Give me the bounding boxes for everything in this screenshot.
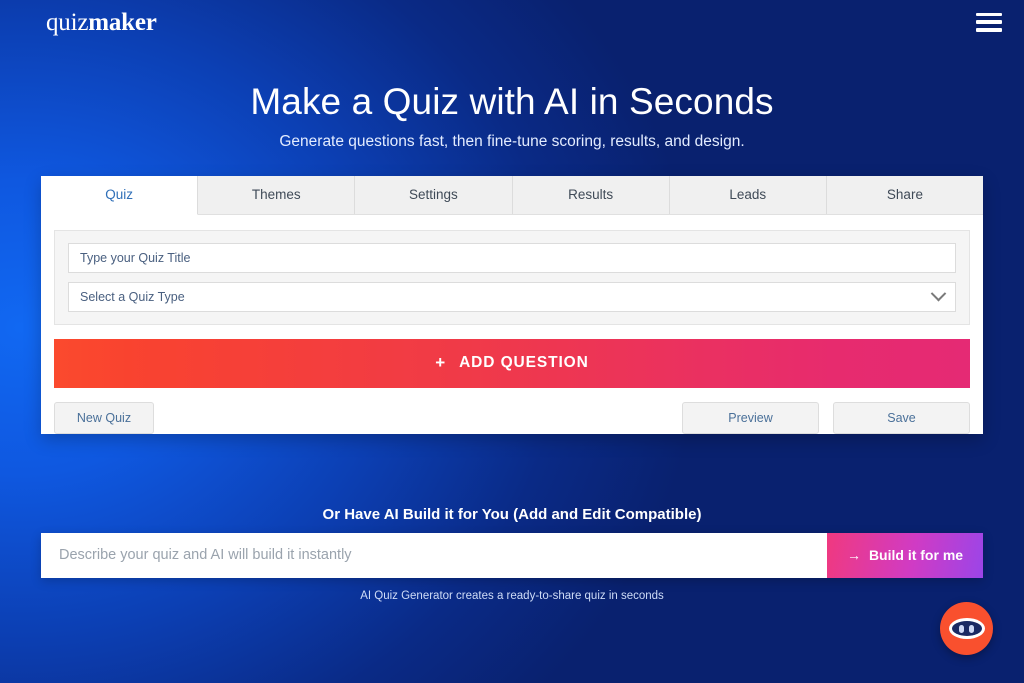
ai-builder-section: Or Have AI Build it for You (Add and Edi… — [0, 506, 1024, 602]
builder-actions-right: Preview Save — [682, 402, 970, 434]
chevron-down-icon — [931, 286, 947, 302]
quiz-fields-panel: Type your Quiz Title Select a Quiz Type — [54, 230, 970, 325]
robot-eye-left — [959, 625, 964, 633]
hero-section: Make a Quiz with AI in Seconds Generate … — [0, 81, 1024, 151]
save-button[interactable]: Save — [833, 402, 970, 434]
builder-tabs: Quiz Themes Settings Results Leads Share — [41, 176, 983, 215]
preview-button[interactable]: Preview — [682, 402, 819, 434]
robot-face-icon — [949, 618, 985, 639]
new-quiz-button[interactable]: New Quiz — [54, 402, 154, 434]
ai-prompt-bar: Describe your quiz and AI will build it … — [41, 533, 983, 578]
tab-themes[interactable]: Themes — [198, 176, 355, 214]
hamburger-bar-3 — [976, 28, 1002, 32]
ai-prompt-input[interactable]: Describe your quiz and AI will build it … — [41, 533, 827, 578]
tab-settings[interactable]: Settings — [355, 176, 512, 214]
tab-quiz[interactable]: Quiz — [41, 176, 198, 215]
chat-bot-button[interactable] — [940, 602, 993, 655]
tab-leads[interactable]: Leads — [670, 176, 827, 214]
site-header: quizmaker — [0, 0, 1024, 44]
quiz-builder-card: Quiz Themes Settings Results Leads Share… — [41, 176, 983, 434]
add-question-button[interactable]: + ADD QUESTION — [54, 339, 970, 388]
hamburger-bar-1 — [976, 13, 1002, 17]
quiz-type-select[interactable]: Select a Quiz Type — [68, 282, 956, 312]
logo-text-maker: maker — [88, 9, 156, 36]
tab-share[interactable]: Share — [827, 176, 983, 214]
ai-section-caption: AI Quiz Generator creates a ready-to-sha… — [0, 590, 1024, 602]
quiz-type-select-value: Select a Quiz Type — [80, 290, 185, 304]
ai-section-title: Or Have AI Build it for You (Add and Edi… — [0, 506, 1024, 523]
tab-results[interactable]: Results — [513, 176, 670, 214]
robot-eye-right — [969, 625, 974, 633]
quiz-title-input[interactable]: Type your Quiz Title — [68, 243, 956, 273]
logo[interactable]: quizmaker — [46, 10, 157, 35]
page-title: Make a Quiz with AI in Seconds — [0, 81, 1024, 124]
hamburger-bar-2 — [976, 20, 1002, 24]
logo-text-quiz: quiz — [46, 9, 88, 36]
plus-icon: + — [435, 353, 446, 373]
arrow-right-icon: → — [847, 547, 861, 563]
hamburger-menu-icon[interactable] — [976, 13, 1002, 32]
builder-actions: New Quiz Preview Save — [54, 402, 970, 434]
add-question-label: ADD QUESTION — [459, 354, 589, 372]
build-it-for-me-label: Build it for me — [869, 547, 963, 563]
build-it-for-me-button[interactable]: → Build it for me — [827, 533, 983, 578]
page-subtitle: Generate questions fast, then fine-tune … — [0, 133, 1024, 151]
